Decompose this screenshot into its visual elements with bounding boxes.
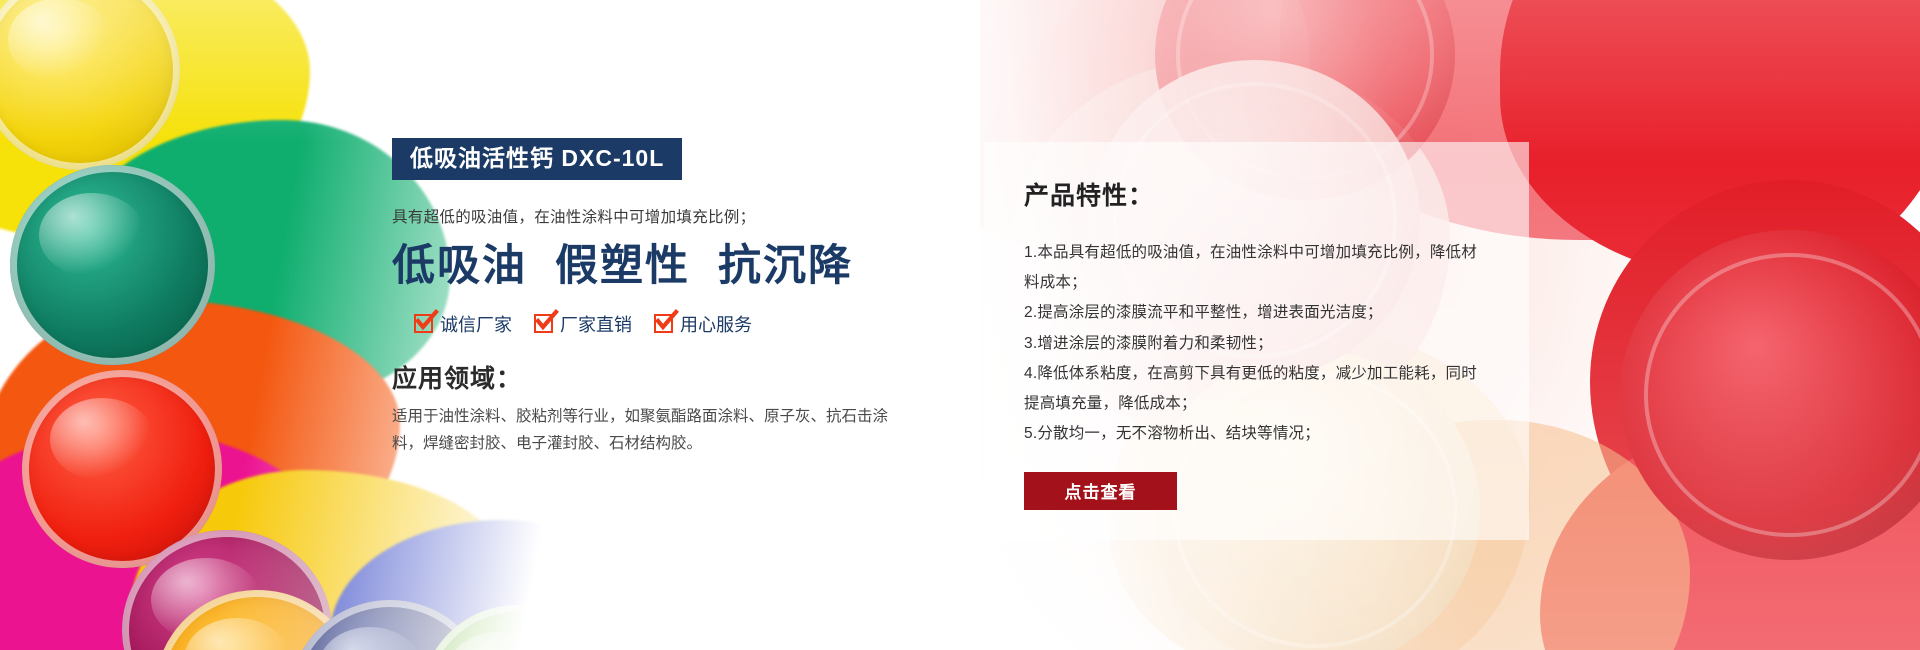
feature-item: 5.分散均一，无不溶物析出、结块等情况； (1024, 419, 1489, 449)
click-to-view-button[interactable]: 点击查看 (1024, 472, 1177, 510)
headline-word-3: 抗沉降 (718, 242, 853, 290)
trust-badges: 诚信厂家 厂家直销 用心服务 (414, 311, 912, 337)
check-square-icon (654, 314, 673, 333)
feature-item: 1.本品具有超低的吸油值，在油性涂料中可增加填充比例，降低材料成本； (1024, 238, 1489, 298)
application-body: 适用于油性涂料、胶粘剂等行业，如聚氨酯路面涂料、原子灰、抗石击涂料，焊缝密封胶、… (392, 403, 892, 457)
feature-item: 2.提高涂层的漆膜流平和平整性，增进表面光洁度； (1024, 298, 1489, 328)
badge-label: 厂家直销 (560, 311, 632, 337)
check-square-icon (534, 314, 553, 333)
badge-item: 厂家直销 (534, 311, 632, 337)
headline-word-1: 低吸油 (392, 242, 527, 290)
left-copy-column: 低吸油活性钙 DXC-10L 具有超低的吸油值，在油性涂料中可增加填充比例； 低… (392, 138, 912, 457)
badge-label: 用心服务 (680, 311, 752, 337)
application-title: 应用领域： (392, 359, 912, 395)
headline-word-2: 假塑性 (555, 242, 690, 290)
badge-item: 用心服务 (654, 311, 752, 337)
check-square-icon (414, 314, 433, 333)
badge-label: 诚信厂家 (440, 311, 512, 337)
product-features-panel: 产品特性： 1.本品具有超低的吸油值，在油性涂料中可增加填充比例，降低材料成本；… (984, 142, 1529, 540)
feature-item: 3.增进涂层的漆膜附着力和柔韧性； (1024, 329, 1489, 359)
feature-item: 4.降低体系粘度，在高剪下具有更低的粘度，减少加工能耗，同时提高填充量，降低成本… (1024, 359, 1489, 419)
badge-item: 诚信厂家 (414, 311, 512, 337)
panel-title: 产品特性： (1024, 176, 1489, 212)
lede-text: 具有超低的吸油值，在油性涂料中可增加填充比例； (392, 206, 912, 229)
feature-list: 1.本品具有超低的吸油值，在油性涂料中可增加填充比例，降低材料成本； 2.提高涂… (1024, 238, 1489, 450)
headline: 低吸油假塑性抗沉降 (392, 241, 912, 293)
product-name-tag: 低吸油活性钙 DXC-10L (392, 138, 682, 180)
product-banner: 低吸油活性钙 DXC-10L 具有超低的吸油值，在油性涂料中可增加填充比例； 低… (0, 0, 1920, 650)
teal-pot-rim (10, 165, 215, 365)
